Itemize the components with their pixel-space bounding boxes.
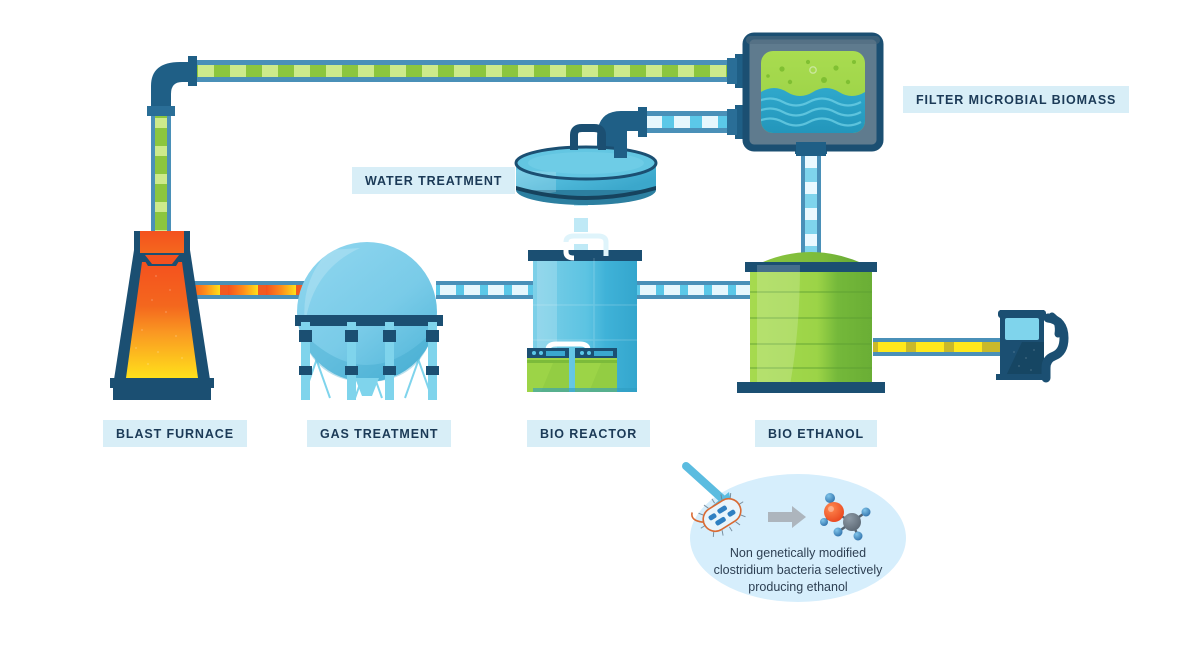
pipe-filter-downpipe <box>795 142 827 265</box>
annotation-line-2: clostridium bacteria selectively <box>678 562 918 579</box>
label-bio-reactor: BIO REACTOR <box>527 420 650 447</box>
filter-tank-icon <box>746 36 880 156</box>
label-gas-treatment: GAS TREATMENT <box>307 420 451 447</box>
annotation-line-3: producing ethanol <box>678 579 918 596</box>
label-water-treatment: WATER TREATMENT <box>352 167 515 194</box>
bioreactor-icon <box>516 124 656 392</box>
blast-furnace-icon <box>110 231 214 400</box>
storage-tank-icon <box>737 252 885 393</box>
label-bio-ethanol: BIO ETHANOL <box>755 420 877 447</box>
pipe-biogas <box>147 54 755 250</box>
label-filter-microbial-biomass: FILTER MICROBIAL BIOMASS <box>903 86 1129 113</box>
pipe-ethanol-out <box>873 338 1006 356</box>
label-blast-furnace: BLAST FURNACE <box>103 420 247 447</box>
spherical-tank-icon <box>295 242 443 400</box>
diagram-canvas: BLAST FURNACE GAS TREATMENT BIO REACTOR … <box>0 0 1200 666</box>
fuel-pump-icon <box>996 310 1064 380</box>
annotation-line-1: Non genetically modified <box>678 545 918 562</box>
annotation-caption: Non genetically modified clostridium bac… <box>678 545 918 596</box>
